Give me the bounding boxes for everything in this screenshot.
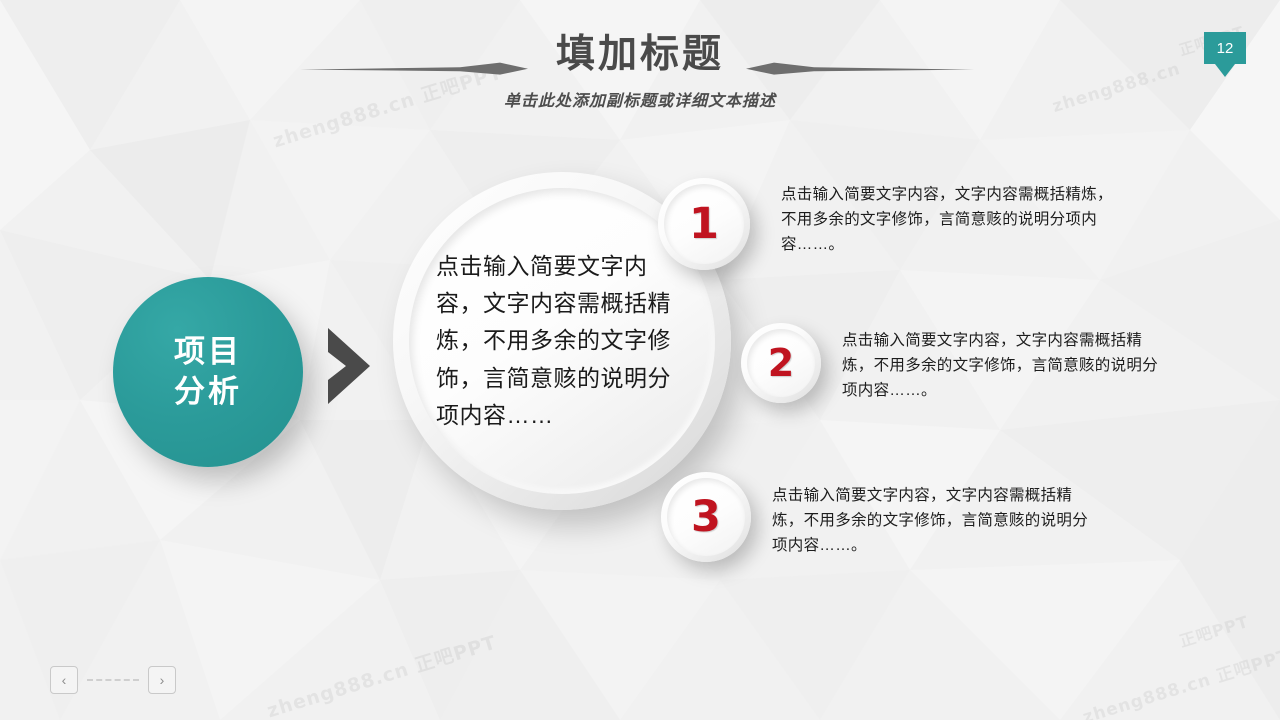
item-number-2: 2 (768, 341, 794, 385)
item-text-1: 点击输入简要文字内容，文字内容需概括精炼，不用多余的文字修饰，言简意赅的说明分项… (781, 182, 1119, 257)
item-text-2: 点击输入简要文字内容，文字内容需概括精炼，不用多余的文字修饰，言简意赅的说明分项… (842, 328, 1164, 403)
item-number-3: 3 (691, 492, 721, 542)
item-number-1: 1 (689, 199, 719, 249)
chevron-right-icon (326, 328, 372, 404)
page-title: 填加标题 (0, 34, 1280, 77)
slide-canvas: zheng888.cn 正吧PPT zheng888.cn zheng888.c… (0, 0, 1280, 720)
nav-divider (87, 679, 139, 681)
item-number-circle-2-inner: 2 (747, 329, 815, 397)
chevron-right-icon: › (160, 672, 165, 688)
title-dart-left-icon (300, 62, 528, 76)
item-number-circle-3[interactable]: 3 (661, 472, 751, 562)
page-number-badge: 12 (1204, 32, 1246, 64)
title-dart-right-icon (746, 62, 974, 76)
project-analysis-node[interactable]: 项目 分析 (113, 277, 303, 467)
page-subtitle: 单击此处添加副标题或详细文本描述 (0, 87, 1280, 111)
project-analysis-label-line1: 项目 (174, 332, 242, 372)
prev-slide-button[interactable]: ‹ (50, 666, 78, 694)
item-text-3: 点击输入简要文字内容，文字内容需概括精炼，不用多余的文字修饰，言简意赅的说明分项… (772, 483, 1102, 558)
main-content-text: 点击输入简要文字内容，文字内容需概括精炼，不用多余的文字修饰，言简意赅的说明分项… (436, 248, 688, 434)
item-number-circle-2[interactable]: 2 (741, 323, 821, 403)
next-slide-button[interactable]: › (148, 666, 176, 694)
chevron-left-icon: ‹ (62, 672, 67, 688)
item-number-circle-1-inner: 1 (664, 184, 744, 264)
slide-navigation: ‹ › (50, 666, 176, 694)
project-analysis-label-line2: 分析 (174, 372, 242, 412)
slide-header: 填加标题 单击此处添加副标题或详细文本描述 (0, 34, 1280, 111)
page-number-value: 12 (1217, 40, 1234, 57)
item-number-circle-1[interactable]: 1 (658, 178, 750, 270)
item-number-circle-3-inner: 3 (667, 478, 745, 556)
